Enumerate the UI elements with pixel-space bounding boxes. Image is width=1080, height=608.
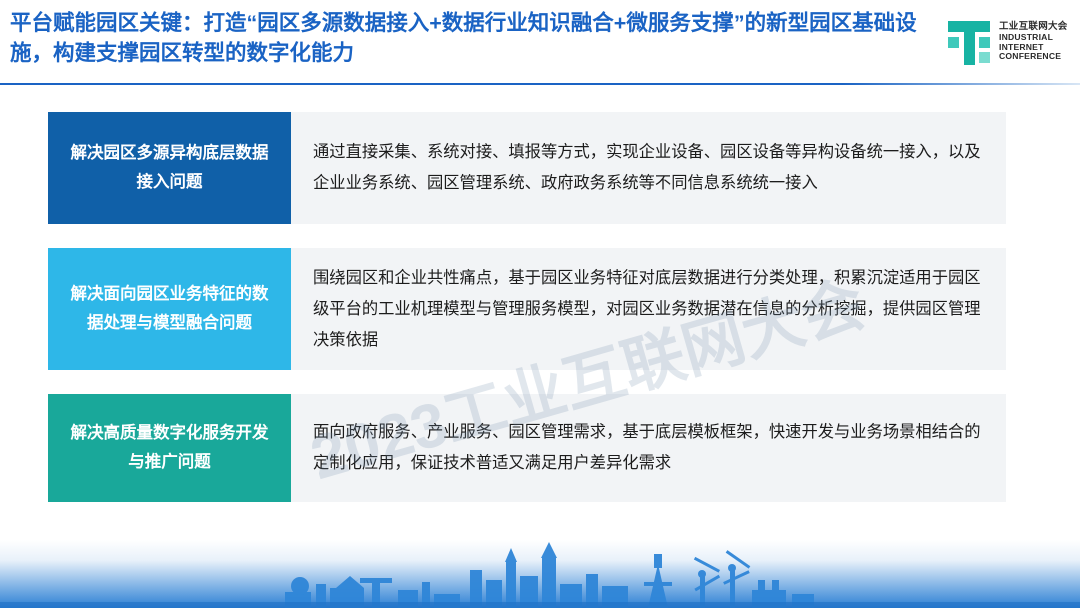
logo-text: 工业互联网大会 INDUSTRIAL INTERNET CONFERENCE	[999, 22, 1068, 62]
row-body-3: 面向政府服务、产业服务、园区管理需求，基于底层模板框架，快速开发与业务场景相结合…	[291, 394, 1006, 502]
city-skyline-band	[0, 540, 1080, 608]
content-rows: 解决园区多源异构底层数据接入问题 通过直接采集、系统对接、填报等方式，实现企业设…	[48, 112, 1006, 526]
logo-text-en-3: CONFERENCE	[999, 52, 1068, 62]
logo-mark-icon	[946, 19, 992, 65]
conference-logo: 工业互联网大会 INDUSTRIAL INTERNET CONFERENCE	[946, 8, 1066, 76]
row-body-1: 通过直接采集、系统对接、填报等方式，实现企业设备、园区设备等异构设备统一接入，以…	[291, 112, 1006, 224]
content-row: 解决高质量数字化服务开发与推广问题 面向政府服务、产业服务、园区管理需求，基于底…	[48, 394, 1006, 502]
skyline-illustration	[0, 540, 1080, 608]
content-row: 解决园区多源异构底层数据接入问题 通过直接采集、系统对接、填报等方式，实现企业设…	[48, 112, 1006, 224]
row-label-2: 解决面向园区业务特征的数据处理与模型融合问题	[48, 248, 291, 370]
content-row: 解决面向园区业务特征的数据处理与模型融合问题 围绕园区和企业共性痛点，基于园区业…	[48, 248, 1006, 370]
row-body-2: 围绕园区和企业共性痛点，基于园区业务特征对底层数据进行分类处理，积累沉淀适用于园…	[291, 248, 1006, 370]
slide: 平台赋能园区关键：打造“园区多源数据接入+数据行业知识融合+微服务支撑”的新型园…	[0, 0, 1080, 608]
header-divider	[0, 83, 1080, 85]
row-label-3: 解决高质量数字化服务开发与推广问题	[48, 394, 291, 502]
row-label-1: 解决园区多源异构底层数据接入问题	[48, 112, 291, 224]
slide-header: 平台赋能园区关键：打造“园区多源数据接入+数据行业知识融合+微服务支撑”的新型园…	[0, 0, 1080, 84]
page-title: 平台赋能园区关键：打造“园区多源数据接入+数据行业知识融合+微服务支撑”的新型园…	[10, 8, 940, 68]
